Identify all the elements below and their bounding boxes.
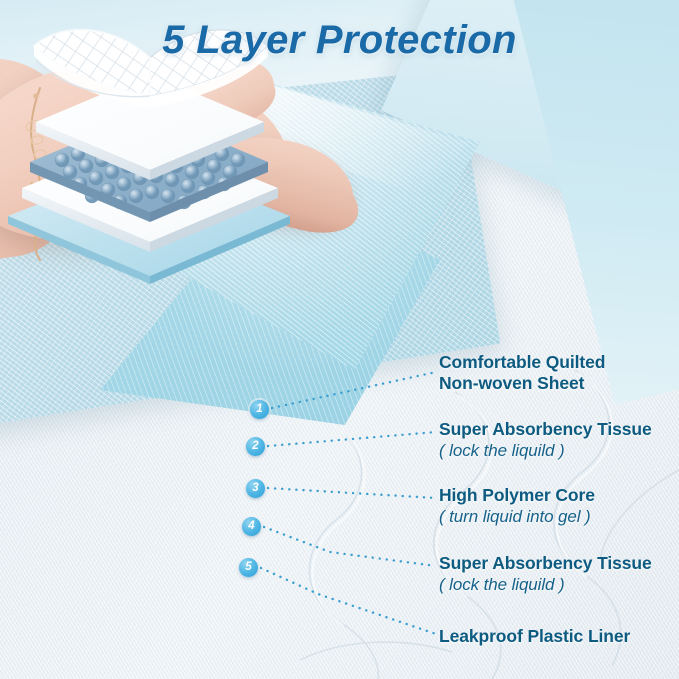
callout-marker-1[interactable]: 1 — [250, 400, 269, 419]
infographic-canvas: 1 2 3 4 5 5 Layer Protection Comfortable… — [0, 0, 679, 679]
callout-label-5-line1: Leakproof Plastic Liner — [439, 626, 630, 647]
callout-label-4: Super Absorbency Tissue ( lock the liqui… — [439, 553, 652, 596]
callout-marker-4[interactable]: 4 — [242, 517, 261, 536]
callout-label-1-line1: Comfortable Quilted — [439, 352, 605, 373]
callout-marker-3[interactable]: 3 — [246, 479, 265, 498]
callout-label-2-sub: ( lock the liquild ) — [439, 440, 652, 462]
callout-label-1-line2: Non-woven Sheet — [439, 373, 605, 394]
callout-marker-5[interactable]: 5 — [239, 558, 258, 577]
callout-label-2: Super Absorbency Tissue ( lock the liqui… — [439, 419, 652, 462]
callout-label-3-sub: ( turn liquid into gel ) — [439, 506, 595, 528]
callout-label-5: Leakproof Plastic Liner — [439, 626, 630, 647]
callout-label-4-line1: Super Absorbency Tissue — [439, 553, 652, 574]
callout-marker-2[interactable]: 2 — [246, 437, 265, 456]
page-title: 5 Layer Protection — [0, 18, 679, 63]
callout-label-3: High Polymer Core ( turn liquid into gel… — [439, 485, 595, 528]
callout-label-4-sub: ( lock the liquild ) — [439, 574, 652, 596]
callout-label-1: Comfortable Quilted Non-woven Sheet — [439, 352, 605, 394]
callout-label-2-line1: Super Absorbency Tissue — [439, 419, 652, 440]
callout-label-3-line1: High Polymer Core — [439, 485, 595, 506]
